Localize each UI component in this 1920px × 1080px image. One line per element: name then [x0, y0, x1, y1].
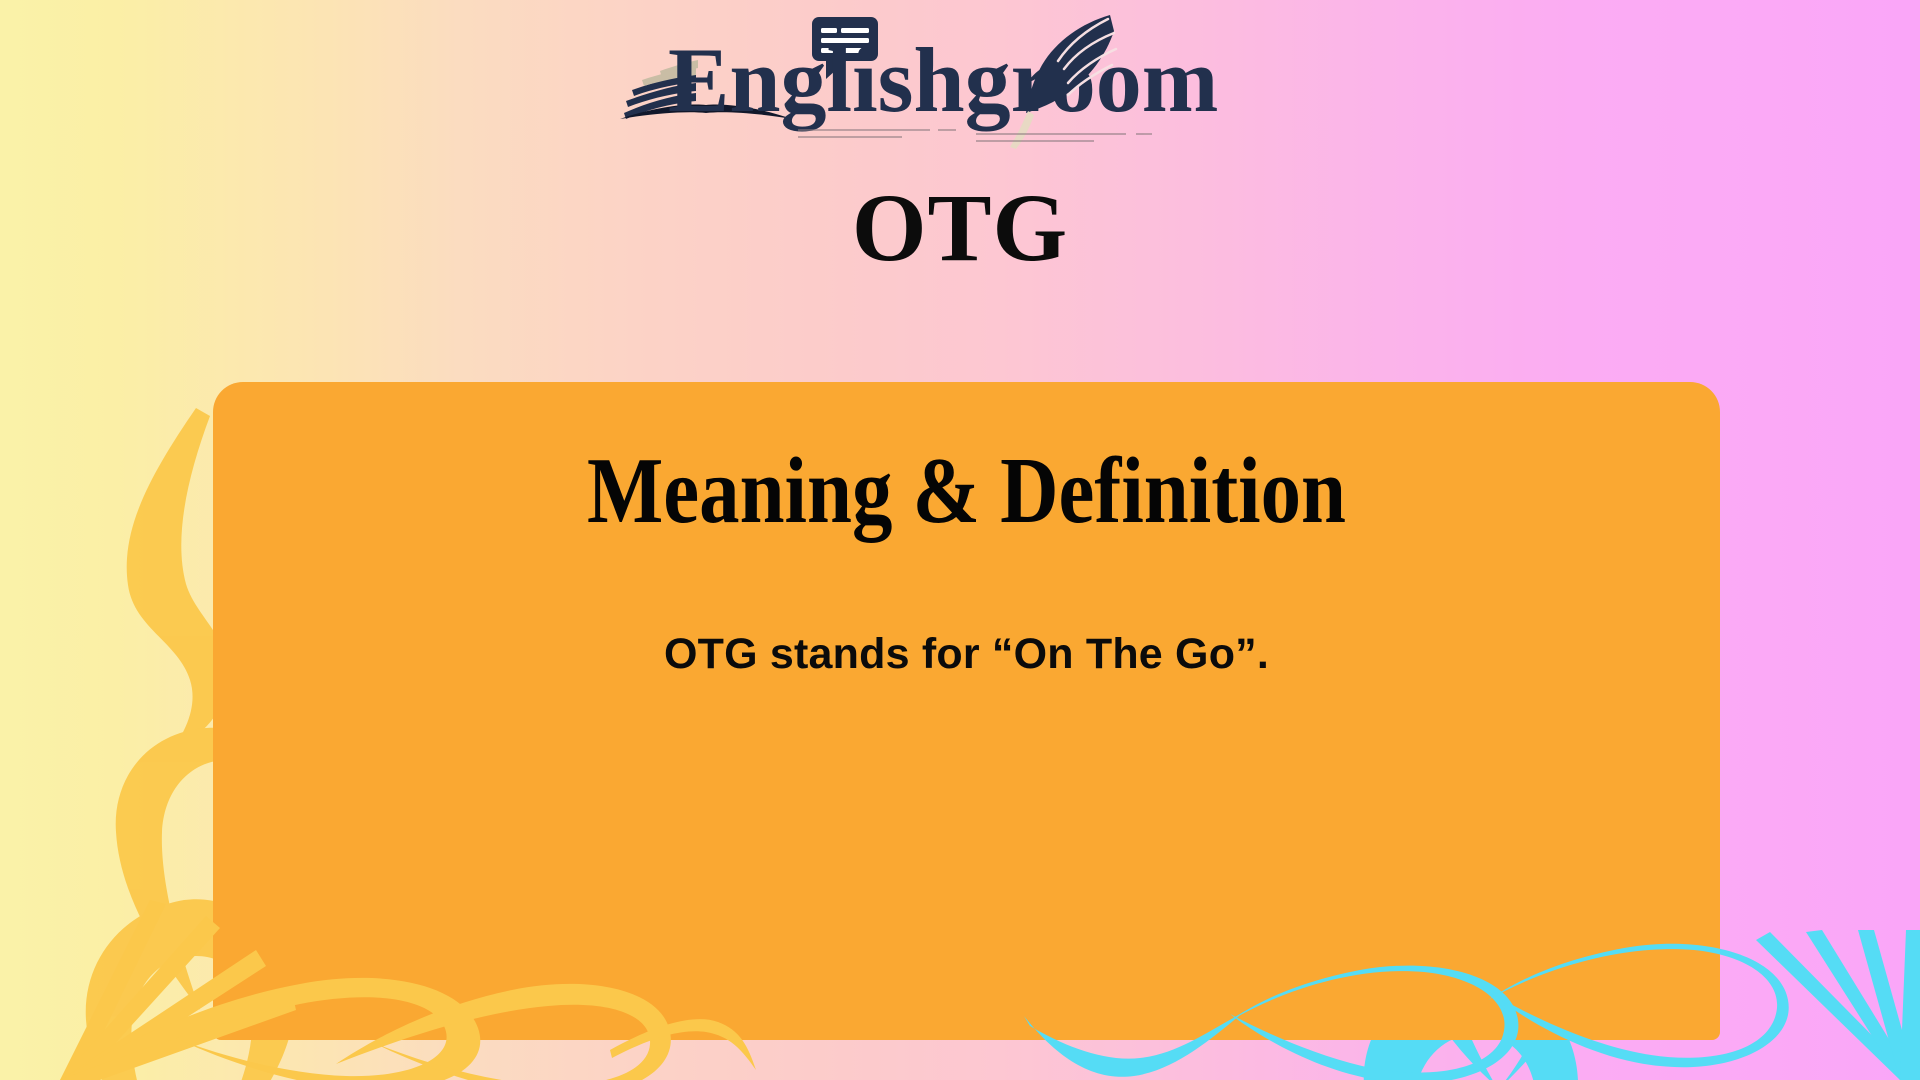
left-ribbon-tail [0, 900, 760, 1080]
brand-logo[interactable]: Englishgroom [0, 8, 1920, 153]
brand-wordmark: Englishgroom [668, 29, 1218, 131]
right-ribbon-tail [1020, 930, 1920, 1080]
card-body-text: OTG stands for “On The Go”. [213, 627, 1720, 683]
card-heading: Meaning & Definition [318, 444, 1614, 538]
page-title: OTG [0, 178, 1920, 279]
